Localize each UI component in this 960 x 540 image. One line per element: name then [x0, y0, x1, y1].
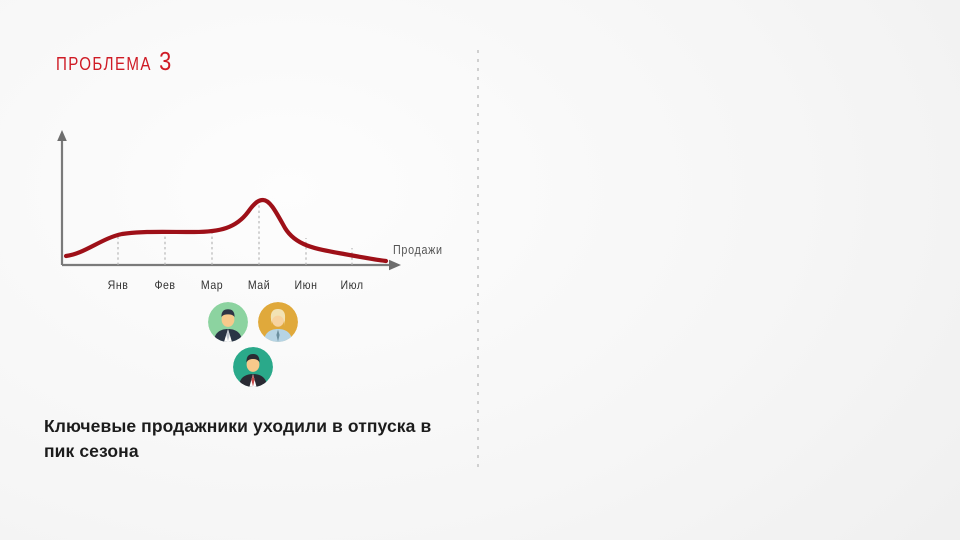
month-label-mar: Мар: [201, 278, 223, 292]
y-axis-arrow-icon: [57, 130, 67, 141]
month-label-jun: Июн: [295, 278, 318, 292]
avatar-teal-problem: [233, 347, 273, 387]
month-label-jul: Июл: [340, 278, 363, 292]
page-title-problem: Проблема 3: [56, 46, 173, 77]
problem-title-text: Проблема 3: [56, 46, 173, 76]
x-axis-arrow-icon: [389, 260, 401, 270]
problem-sales-line: [66, 200, 386, 261]
month-label-jan: Янв: [108, 278, 129, 292]
solution-panel: Решение: [477, 0, 960, 540]
slide-root: Проблема 3: [0, 0, 960, 540]
problem-panel: Проблема 3: [0, 0, 477, 540]
problem-caption: Ключевые продажники уходили в отпуска в …: [44, 414, 444, 464]
avatar-green-problem: [208, 302, 248, 342]
problem-axis-caption: Продажи: [393, 243, 443, 257]
avatar-amber-problem: [258, 302, 298, 342]
month-label-feb: Фев: [154, 278, 175, 292]
month-label-may: Май: [248, 278, 270, 292]
